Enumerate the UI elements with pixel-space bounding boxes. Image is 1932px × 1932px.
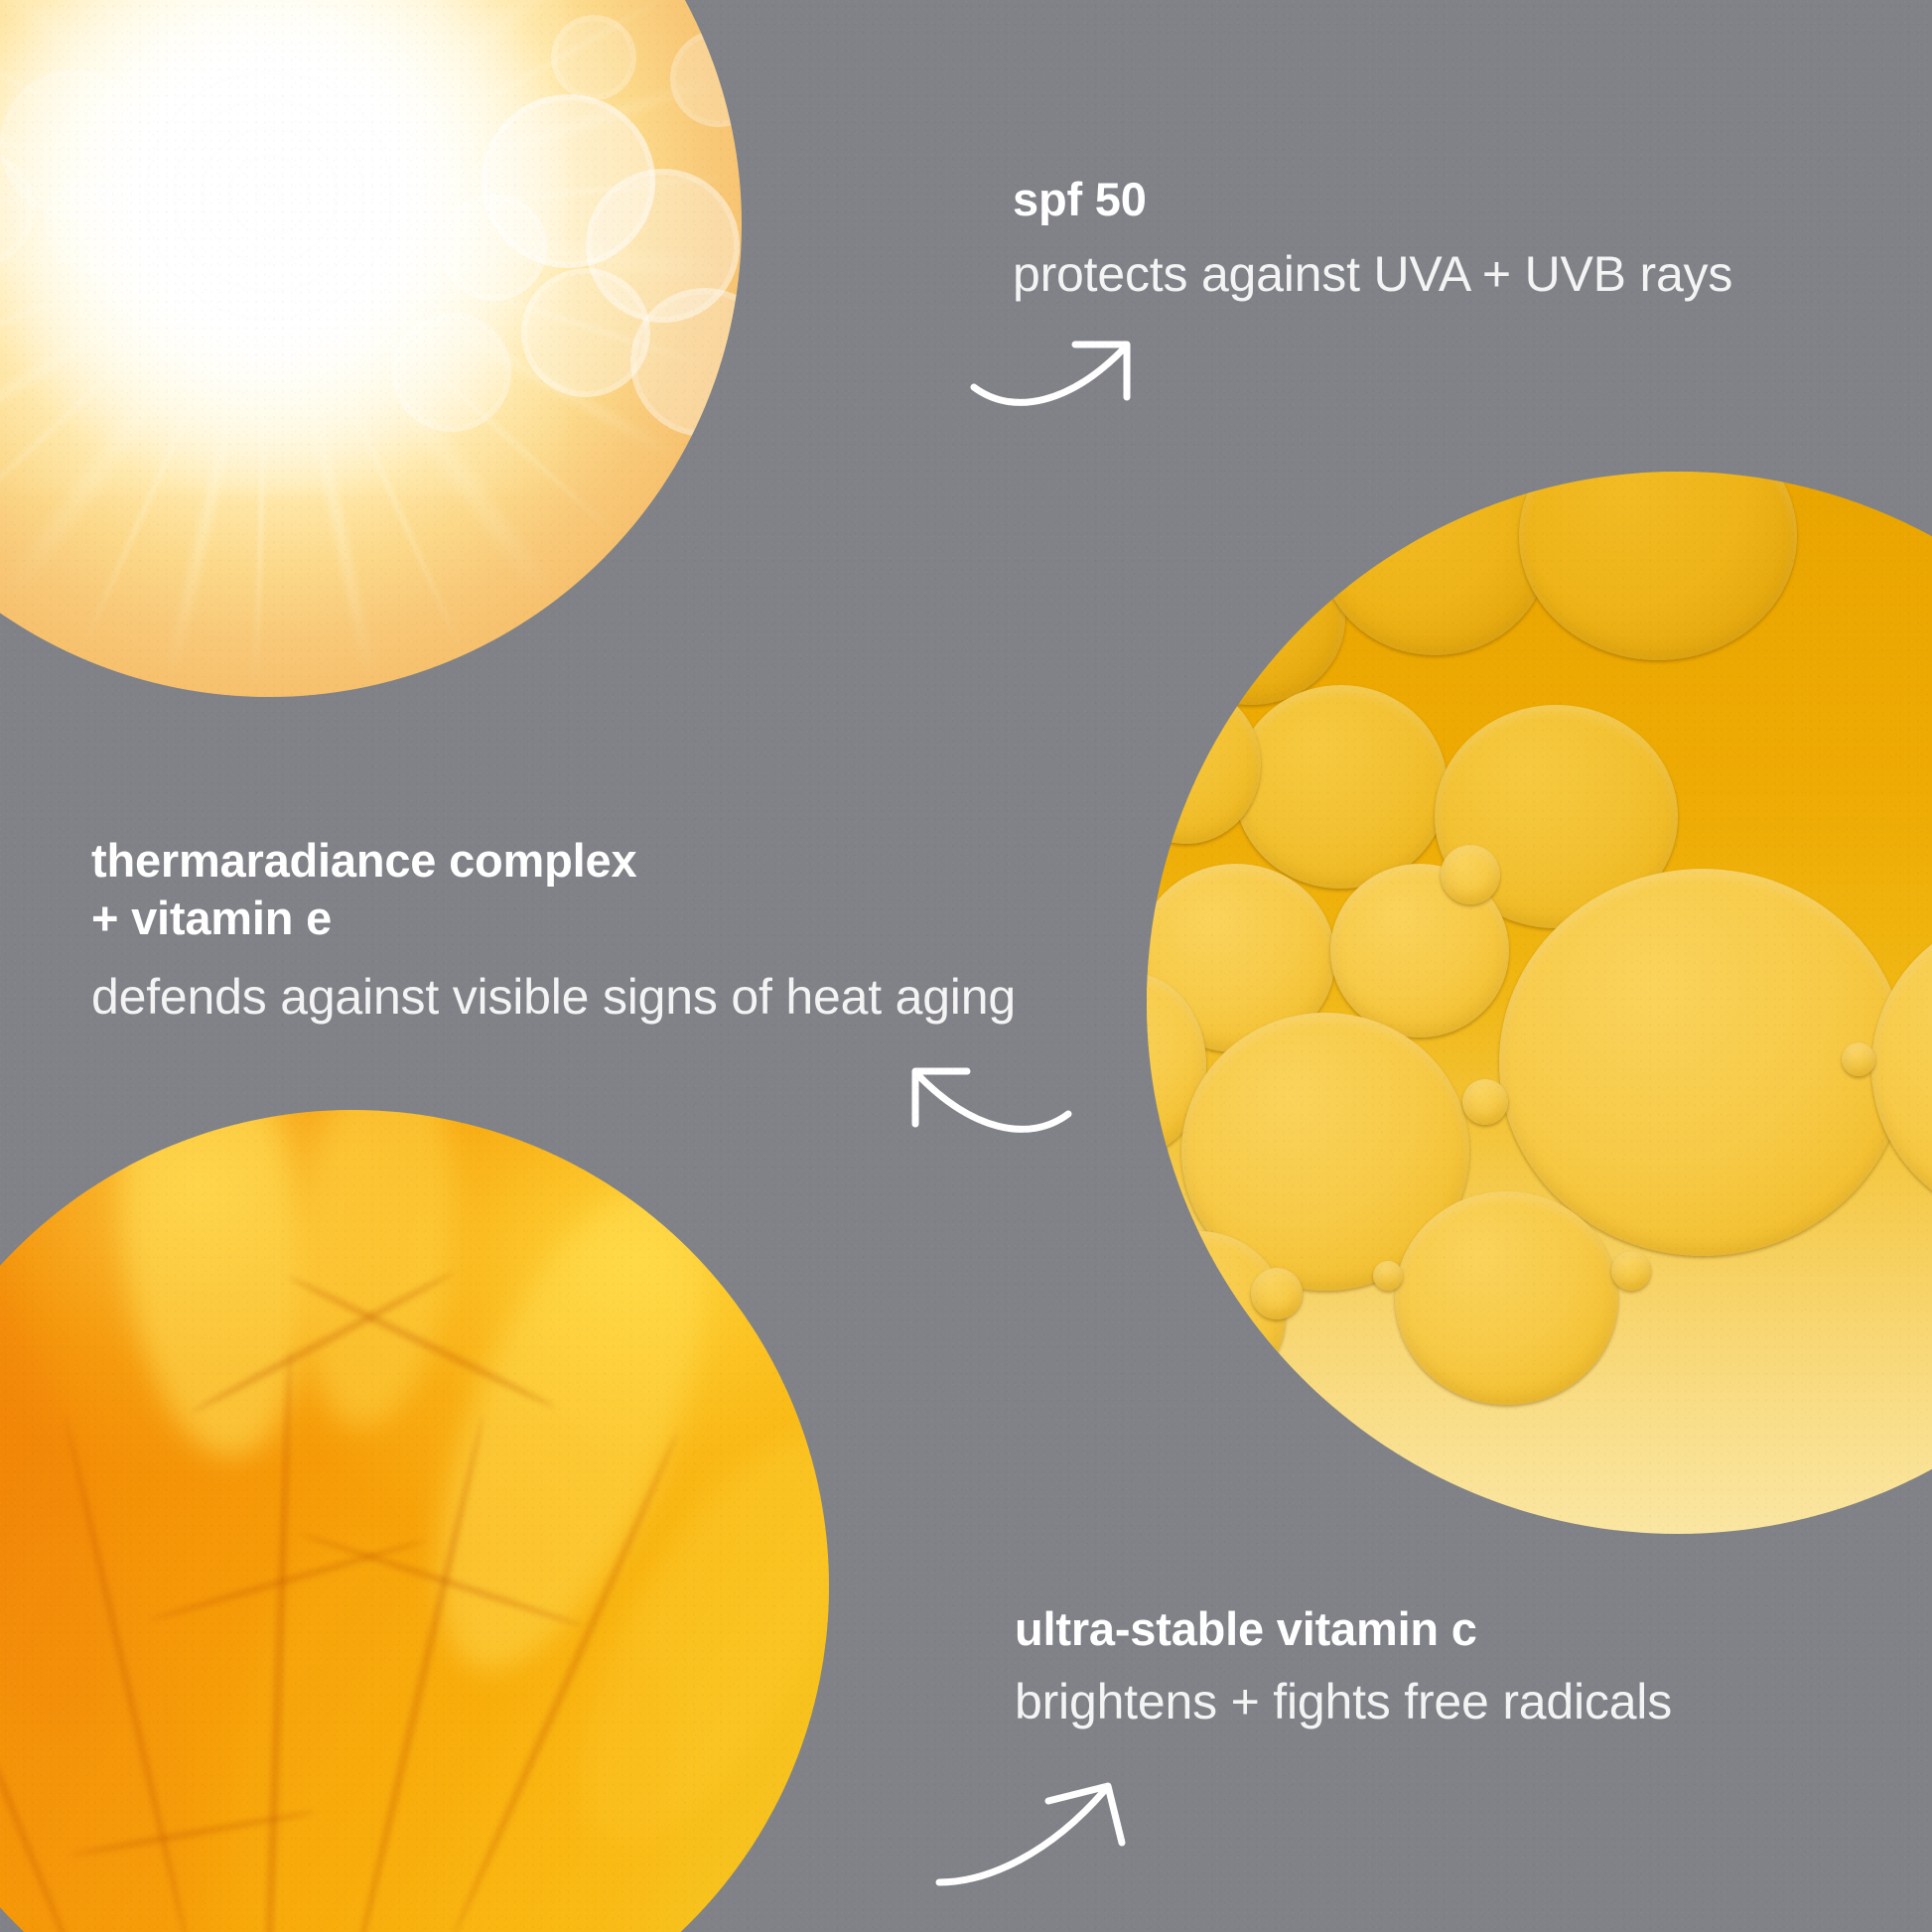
vitamin-c-headline: ultra-stable vitamin c <box>1015 1600 1672 1658</box>
feature-thermaradiance-text: thermaradiance complex + vitamin e defen… <box>91 832 1016 1027</box>
curved-arrow-up-right-icon <box>968 326 1167 430</box>
orange-petal-photo <box>0 1110 829 1932</box>
sun-burst-photo <box>0 0 742 697</box>
spf-headline: spf 50 <box>1013 171 1732 228</box>
infographic-canvas: spf 50 protects against UVA + UVB rays t… <box>0 0 1932 1932</box>
feature-spf-text: spf 50 protects against UVA + UVB rays <box>1013 171 1732 304</box>
spf-subline: protects against UVA + UVB rays <box>1013 244 1732 304</box>
thermaradiance-subline: defends against visible signs of heat ag… <box>91 967 1016 1027</box>
thermaradiance-headline-line2: + vitamin e <box>91 890 1016 947</box>
oil-bubbles-photo <box>1147 472 1932 1534</box>
feature-vitamin-c-text: ultra-stable vitamin c brightens + fight… <box>1015 1600 1672 1731</box>
vitamin-c-subline: brightens + fights free radicals <box>1015 1672 1672 1731</box>
curved-arrow-up-left-icon <box>876 1052 1074 1157</box>
curved-arrow-up-right-icon <box>933 1777 1147 1901</box>
thermaradiance-headline-line1: thermaradiance complex <box>91 832 1016 890</box>
